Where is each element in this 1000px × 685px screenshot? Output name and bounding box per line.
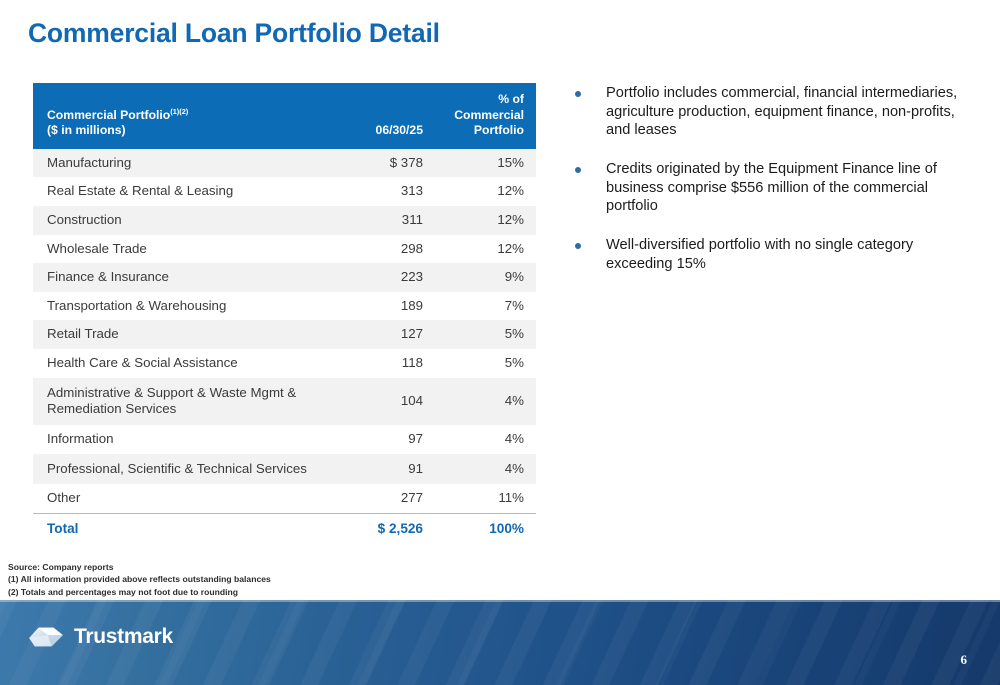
- row-value: 91: [330, 454, 436, 485]
- row-percent: 12%: [436, 177, 536, 206]
- table-row: Retail Trade 127 5%: [33, 320, 536, 349]
- footer-band: Trustmark 6: [0, 600, 1000, 685]
- row-value: 313: [330, 177, 436, 206]
- table-header-row: Commercial Portfolio(1)(2) ($ in million…: [33, 83, 536, 149]
- table-total-row: Total $ 2,526 100%: [33, 513, 536, 545]
- footer-top-rule: [0, 600, 1000, 602]
- portfolio-table-container: Commercial Portfolio(1)(2) ($ in million…: [33, 83, 536, 546]
- table-row: Wholesale Trade 298 12%: [33, 235, 536, 264]
- row-percent: 12%: [436, 206, 536, 235]
- column-header-name-line1: Commercial Portfolio: [47, 108, 170, 122]
- column-header-percent-line2: Commercial: [454, 108, 524, 122]
- table-row: Finance & Insurance 223 9%: [33, 263, 536, 292]
- column-header-name-line2: ($ in millions): [47, 123, 126, 137]
- row-label: Manufacturing: [33, 149, 330, 178]
- table-row: Professional, Scientific & Technical Ser…: [33, 454, 536, 485]
- column-header-percent-line1: % of: [498, 92, 524, 106]
- list-item: Credits originated by the Equipment Fina…: [566, 160, 976, 216]
- trustmark-logo-icon: [27, 622, 65, 652]
- total-value: $ 2,526: [330, 513, 436, 545]
- row-value: 298: [330, 235, 436, 264]
- row-label: Real Estate & Rental & Leasing: [33, 177, 330, 206]
- row-label: Finance & Insurance: [33, 263, 330, 292]
- row-value: 277: [330, 484, 436, 513]
- row-value: 223: [330, 263, 436, 292]
- column-header-date: 06/30/25: [330, 83, 436, 149]
- list-item-text: Credits originated by the Equipment Fina…: [606, 161, 937, 214]
- list-item-text: Well-diversified portfolio with no singl…: [606, 237, 913, 272]
- row-label: Administrative & Support & Waste Mgmt & …: [33, 378, 330, 425]
- total-percent: 100%: [436, 513, 536, 545]
- row-percent: 4%: [436, 454, 536, 485]
- row-label: Transportation & Warehousing: [33, 292, 330, 321]
- row-label: Health Care & Social Assistance: [33, 349, 330, 378]
- row-percent: 4%: [436, 378, 536, 425]
- portfolio-table: Commercial Portfolio(1)(2) ($ in million…: [33, 83, 536, 546]
- column-header-name: Commercial Portfolio(1)(2) ($ in million…: [33, 83, 330, 149]
- bullet-dot-icon: [575, 167, 581, 173]
- footnotes: Source: Company reports (1) All informat…: [8, 561, 271, 598]
- footnote-2: (2) Totals and percentages may not foot …: [8, 586, 271, 598]
- page-number: 6: [961, 652, 968, 668]
- row-value: 189: [330, 292, 436, 321]
- row-value: 127: [330, 320, 436, 349]
- row-value: 118: [330, 349, 436, 378]
- slide-root: Commercial Loan Portfolio Detail Commerc…: [0, 0, 1000, 685]
- row-label: Wholesale Trade: [33, 235, 330, 264]
- table-row: Administrative & Support & Waste Mgmt & …: [33, 378, 536, 425]
- bullet-dot-icon: [575, 243, 581, 249]
- table-header: Commercial Portfolio(1)(2) ($ in million…: [33, 83, 536, 149]
- bullet-dot-icon: [575, 91, 581, 97]
- table-row: Information 97 4%: [33, 425, 536, 454]
- row-label: Other: [33, 484, 330, 513]
- row-percent: 5%: [436, 349, 536, 378]
- row-percent: 5%: [436, 320, 536, 349]
- row-label: Construction: [33, 206, 330, 235]
- table-row: Construction 311 12%: [33, 206, 536, 235]
- column-header-percent: % of Commercial Portfolio: [436, 83, 536, 149]
- table-body: Manufacturing $ 378 15% Real Estate & Re…: [33, 149, 536, 546]
- row-percent: 7%: [436, 292, 536, 321]
- column-header-percent-line3: Portfolio: [474, 123, 524, 137]
- row-percent: 9%: [436, 263, 536, 292]
- list-item: Portfolio includes commercial, financial…: [566, 84, 976, 140]
- column-header-footnote-marker: (1)(2): [170, 107, 188, 116]
- page-title: Commercial Loan Portfolio Detail: [28, 18, 440, 49]
- row-percent: 4%: [436, 425, 536, 454]
- brand-name: Trustmark: [74, 625, 173, 649]
- table-row: Manufacturing $ 378 15%: [33, 149, 536, 178]
- brand-lockup: Trustmark: [27, 622, 173, 652]
- table-row: Other 277 11%: [33, 484, 536, 513]
- row-value: 311: [330, 206, 436, 235]
- row-value: $ 378: [330, 149, 436, 178]
- row-value: 104: [330, 378, 436, 425]
- row-percent: 15%: [436, 149, 536, 178]
- row-label: Professional, Scientific & Technical Ser…: [33, 454, 330, 485]
- commentary-list: Portfolio includes commercial, financial…: [566, 84, 976, 293]
- list-item-text: Portfolio includes commercial, financial…: [606, 85, 957, 138]
- row-percent: 11%: [436, 484, 536, 513]
- table-row: Health Care & Social Assistance 118 5%: [33, 349, 536, 378]
- row-value: 97: [330, 425, 436, 454]
- table-row: Real Estate & Rental & Leasing 313 12%: [33, 177, 536, 206]
- list-item: Well-diversified portfolio with no singl…: [566, 236, 976, 273]
- footnote-source: Source: Company reports: [8, 561, 271, 573]
- row-label: Retail Trade: [33, 320, 330, 349]
- row-label: Information: [33, 425, 330, 454]
- row-percent: 12%: [436, 235, 536, 264]
- table-row: Transportation & Warehousing 189 7%: [33, 292, 536, 321]
- footnote-1: (1) All information provided above refle…: [8, 573, 271, 585]
- total-label: Total: [33, 513, 330, 545]
